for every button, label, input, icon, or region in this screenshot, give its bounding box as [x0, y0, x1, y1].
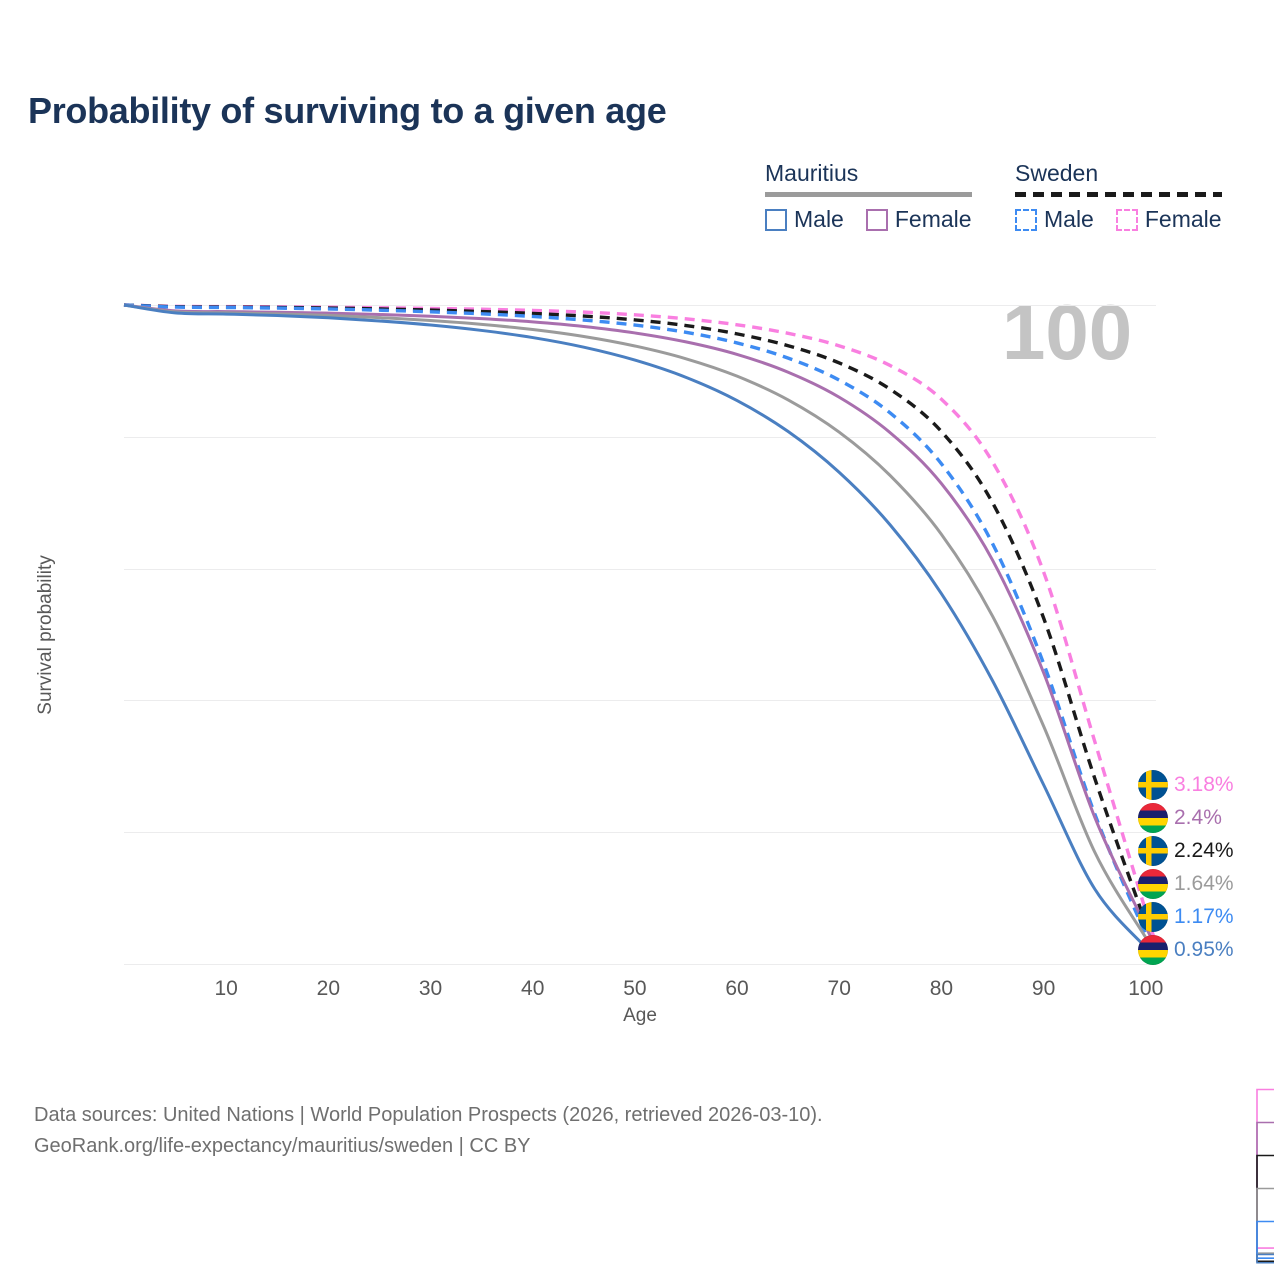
legend-group-sweden: Sweden Male Female — [1015, 160, 1222, 233]
x-axis-tick-label: 30 — [419, 977, 442, 1001]
x-axis-tick-label: 90 — [1032, 977, 1055, 1001]
legend-rule-solid — [765, 192, 972, 197]
series-line-sweden-female — [124, 305, 1156, 943]
series-lines — [124, 305, 1156, 964]
end-value-label: 1.17% — [1138, 900, 1280, 933]
mauritius-flag-icon — [1138, 803, 1168, 833]
legend-item-label: Female — [895, 206, 972, 233]
page-title: Probability of surviving to a given age — [28, 90, 666, 132]
mauritius-flag-icon — [1138, 935, 1168, 965]
legend-item-mauritius-female[interactable]: Female — [866, 206, 972, 233]
swatch-solid-blue-icon — [765, 209, 787, 231]
x-axis-tick-label: 40 — [521, 977, 544, 1001]
sweden-flag-icon — [1138, 902, 1168, 932]
footer-line-url: GeoRank.org/life-expectancy/mauritius/sw… — [34, 1131, 823, 1162]
end-value-text: 2.24% — [1174, 839, 1234, 863]
legend-rule-dashed — [1015, 192, 1222, 197]
x-axis-tick-label: 20 — [317, 977, 340, 1001]
legend-item-sweden-male[interactable]: Male — [1015, 206, 1094, 233]
end-value-text: 1.17% — [1174, 905, 1234, 929]
swatch-dashed-blue-icon — [1015, 209, 1037, 231]
legend-country-label: Sweden — [1015, 160, 1098, 190]
plot-area: 100 0%20%40%60%80%100% 10203040506070809… — [124, 305, 1156, 964]
end-value-label: 3.18% — [1138, 768, 1280, 801]
gridline — [124, 964, 1156, 965]
legend-item-label: Female — [1145, 206, 1222, 233]
end-value-label: 0.95% — [1138, 933, 1280, 966]
end-value-text: 0.95% — [1174, 938, 1234, 962]
sweden-flag-icon — [1138, 836, 1168, 866]
footer-line-sources: Data sources: United Nations | World Pop… — [34, 1100, 823, 1131]
swatch-dashed-pink-icon — [1116, 209, 1138, 231]
legend-item-label: Male — [794, 206, 844, 233]
legend-group-mauritius: Mauritius Male Female — [765, 160, 972, 233]
legend-item-label: Male — [1044, 206, 1094, 233]
end-value-label: 2.24% — [1138, 834, 1280, 867]
legend-item-mauritius-male[interactable]: Male — [765, 206, 844, 233]
mauritius-flag-icon — [1138, 869, 1168, 899]
x-axis-tick-label: 80 — [930, 977, 953, 1001]
series-line-mauritius-total — [124, 305, 1156, 953]
x-axis-tick-label: 60 — [725, 977, 748, 1001]
chart-legend: Mauritius Male Female Sweden — [760, 160, 1260, 240]
x-axis-tick-label: 70 — [828, 977, 851, 1001]
x-axis-tick-label: 50 — [623, 977, 646, 1001]
end-value-text: 1.64% — [1174, 872, 1234, 896]
chart-root: Probability of surviving to a given age … — [0, 0, 1280, 1280]
end-value-labels: 3.18%2.4%2.24%1.64%1.17%0.95% — [1138, 768, 1280, 966]
swatch-solid-purple-icon — [866, 209, 888, 231]
leader-line — [1257, 1090, 1274, 1249]
series-line-mauritius-female — [124, 305, 1156, 948]
end-value-text: 3.18% — [1174, 773, 1234, 797]
legend-country-label: Mauritius — [765, 160, 858, 190]
y-axis-label: Survival probability — [35, 555, 57, 714]
legend-item-sweden-female[interactable]: Female — [1116, 206, 1222, 233]
leader-line — [1257, 1156, 1274, 1262]
sweden-flag-icon — [1138, 770, 1168, 800]
end-value-label: 1.64% — [1138, 867, 1280, 900]
footer: Data sources: United Nations | World Pop… — [34, 1100, 823, 1162]
x-axis-tick-label: 10 — [214, 977, 237, 1001]
end-value-text: 2.4% — [1174, 806, 1222, 830]
end-value-label: 2.4% — [1138, 801, 1280, 834]
x-axis-label: Age — [623, 1005, 657, 1027]
series-line-sweden-total — [124, 305, 1156, 949]
